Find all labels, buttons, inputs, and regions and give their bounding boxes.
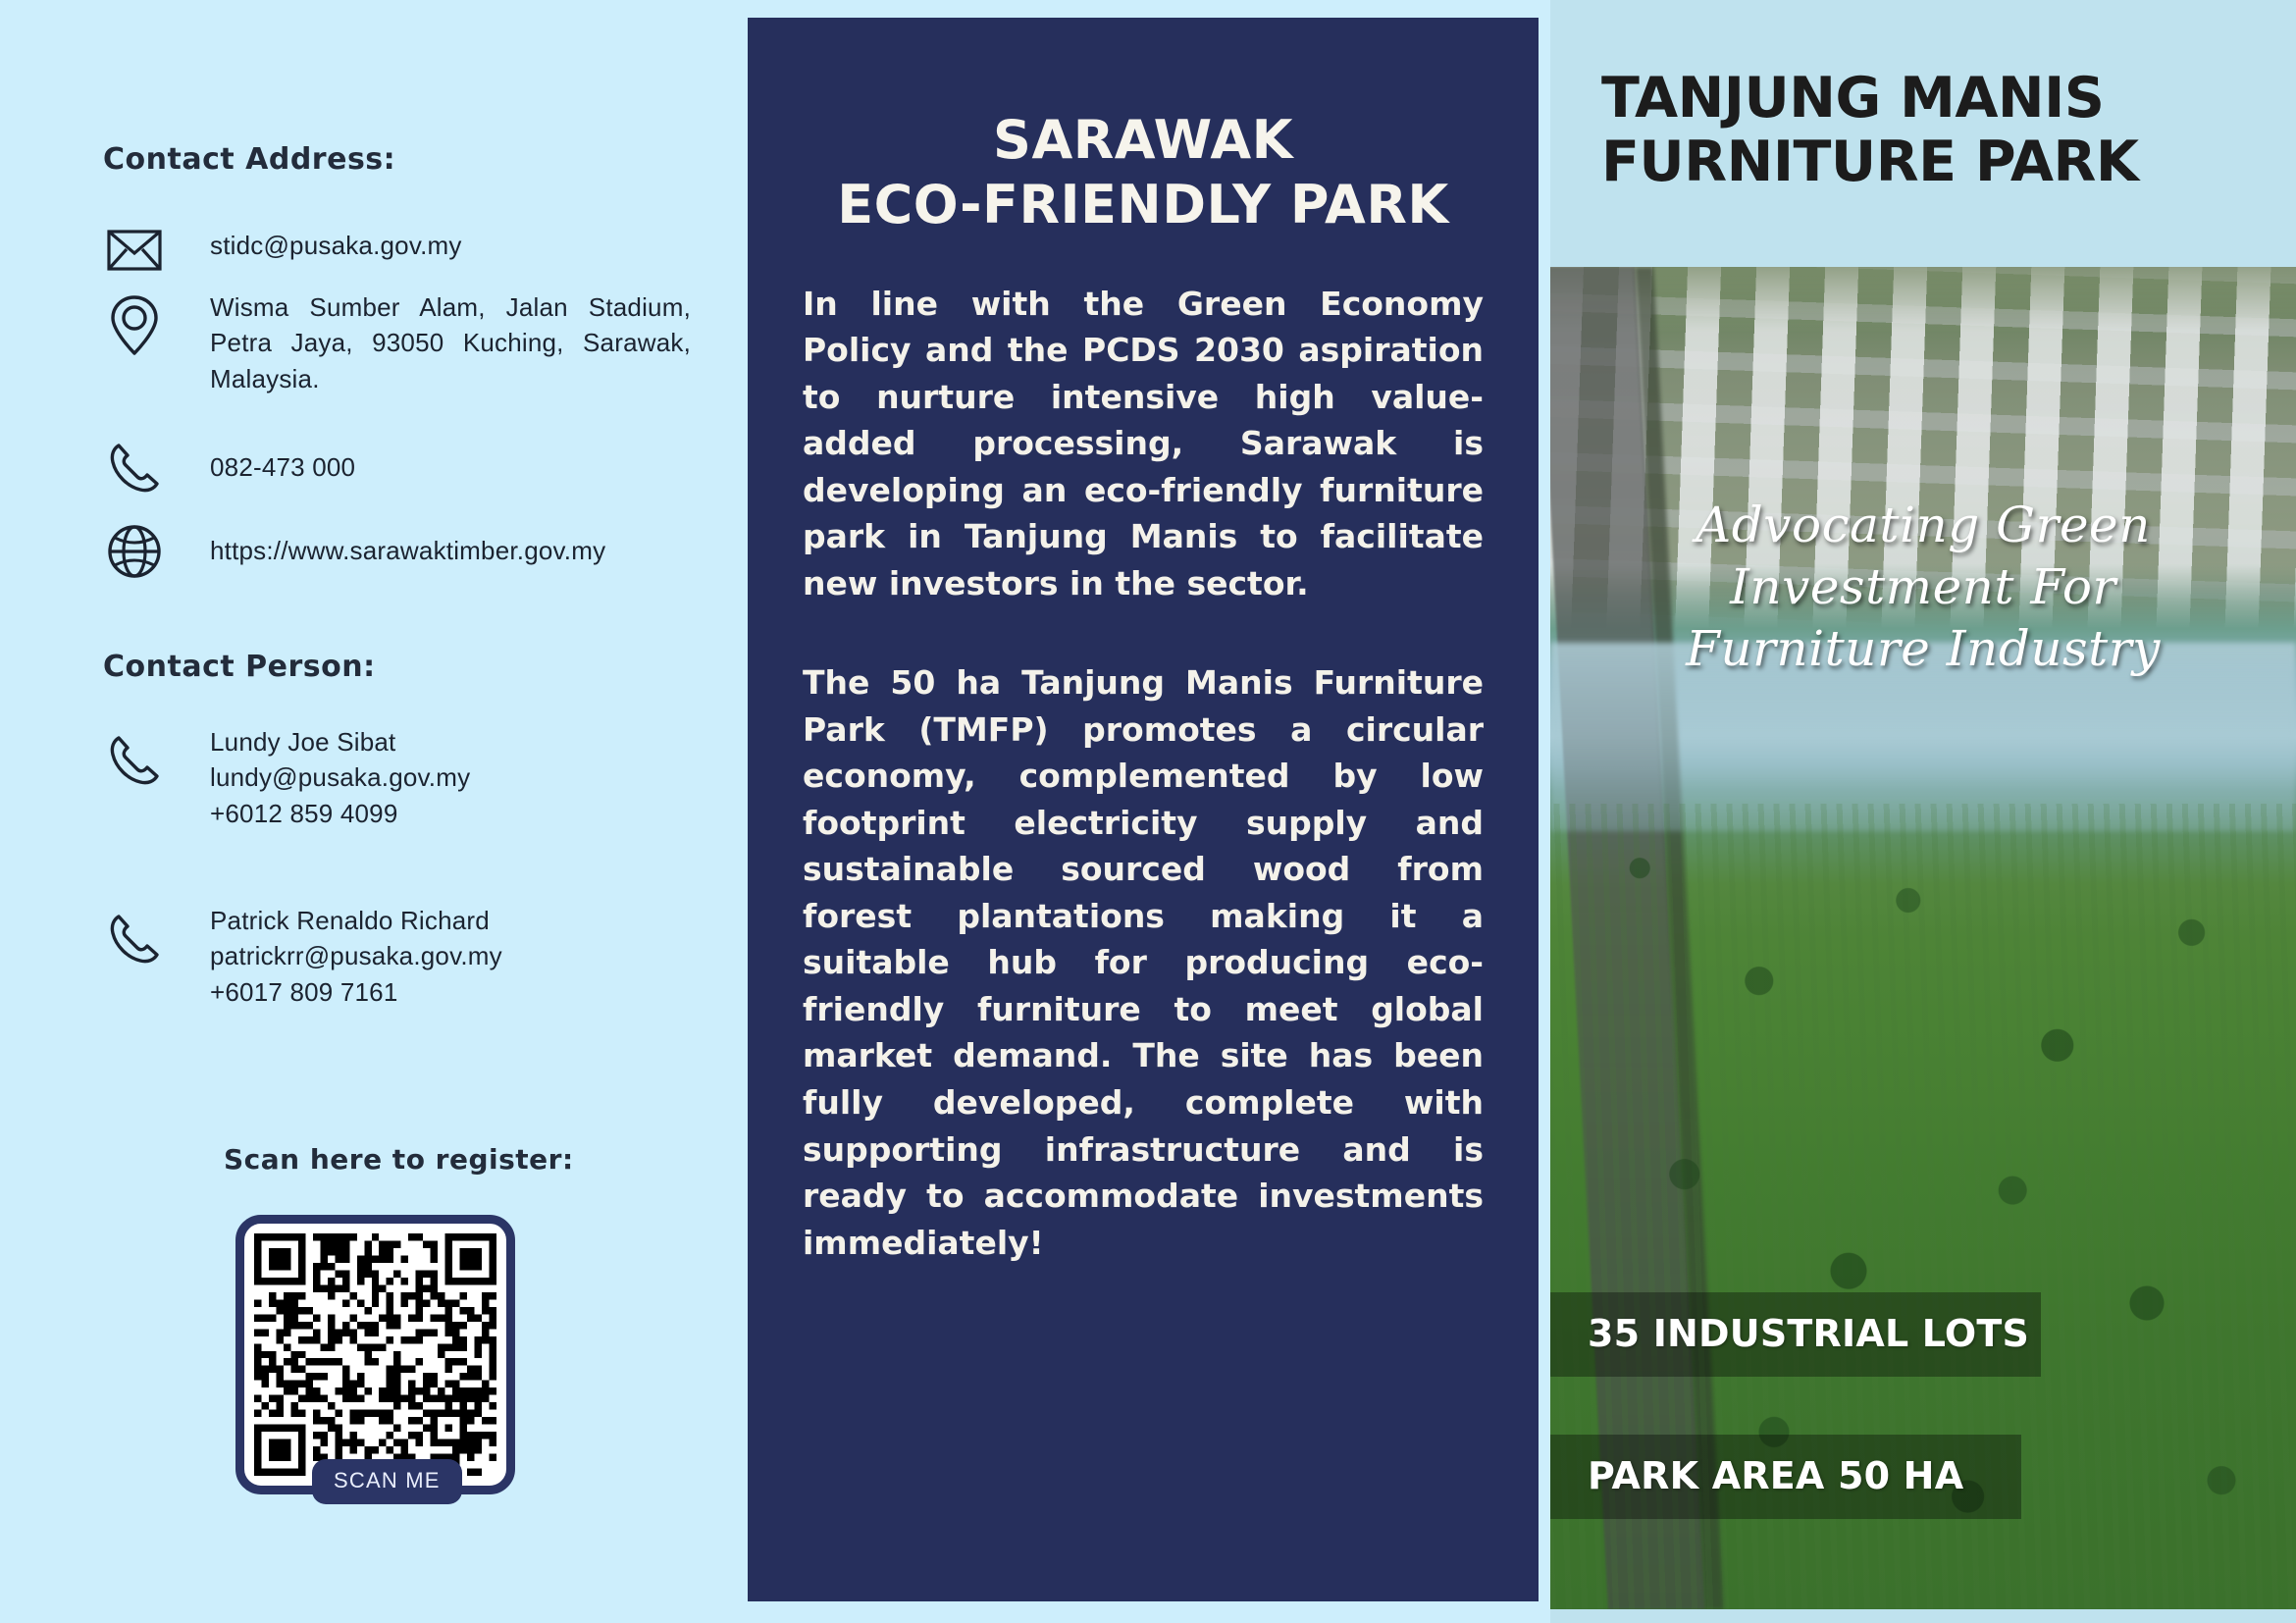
center-panel-description: SARAWAK ECO-FRIENDLY PARK In line with t… <box>748 18 1539 1601</box>
scan-here-heading: Scan here to register: <box>224 1143 574 1176</box>
contact-row-phone: 082-473 000 <box>98 432 701 504</box>
phone-icon <box>98 432 171 504</box>
contact-row-address: Wisma Sumber Alam, Jalan Stadium, Petra … <box>98 289 691 396</box>
person-1-phone[interactable]: +6012 859 4099 <box>210 799 398 828</box>
right-panel-title: TANJUNG MANIS FURNITURE PARK <box>1550 0 2296 194</box>
person-1-details: Lundy Joe Sibat lundy@pusaka.gov.my +601… <box>171 724 652 831</box>
contact-email-text[interactable]: stidc@pusaka.gov.my <box>171 214 720 263</box>
person-2-details: Patrick Renaldo Richard patrickrr@pusaka… <box>171 903 652 1010</box>
center-panel-title: SARAWAK ECO-FRIENDLY PARK <box>803 108 1484 237</box>
person-2-phone[interactable]: +6017 809 7161 <box>210 977 398 1007</box>
qr-code-canvas <box>254 1233 496 1476</box>
contact-person-2: Patrick Renaldo Richard patrickrr@pusaka… <box>98 903 652 1010</box>
contact-person-heading: Contact Person: <box>103 650 376 684</box>
phone-icon <box>98 724 171 797</box>
script-tagline: Advocating Green Investment For Furnitur… <box>1550 495 2296 680</box>
center-paragraph-2: The 50 ha Tanjung Manis Furniture Park (… <box>803 659 1484 1266</box>
contact-row-email: stidc@pusaka.gov.my <box>98 214 720 287</box>
contact-address-heading: Contact Address: <box>103 142 395 177</box>
globe-icon <box>98 515 171 588</box>
contact-person-1: Lundy Joe Sibat lundy@pusaka.gov.my +601… <box>98 724 652 831</box>
brochure-page: Contact Address: stidc@pusaka.gov.my Wis… <box>0 0 2296 1623</box>
scan-me-badge: SCAN ME <box>312 1459 462 1504</box>
location-pin-icon <box>98 289 171 362</box>
stat-industrial-lots: 35 INDUSTRIAL LOTS <box>1550 1292 2041 1377</box>
aerial-photo: Advocating Green Investment For Furnitur… <box>1550 267 2296 1609</box>
contact-row-website: https://www.sarawaktimber.gov.my <box>98 515 740 588</box>
person-2-name: Patrick Renaldo Richard <box>210 906 490 935</box>
center-paragraph-1: In line with the Green Economy Policy an… <box>803 281 1484 607</box>
phone-icon <box>98 903 171 975</box>
qr-code-icon[interactable] <box>235 1215 515 1494</box>
stat-park-area: PARK AREA 50 HA <box>1550 1435 2021 1519</box>
contact-address-text: Wisma Sumber Alam, Jalan Stadium, Petra … <box>171 289 691 396</box>
contact-website-link[interactable]: https://www.sarawaktimber.gov.my <box>171 515 740 568</box>
person-1-email[interactable]: lundy@pusaka.gov.my <box>210 762 470 792</box>
left-panel-contact: Contact Address: stidc@pusaka.gov.my Wis… <box>0 0 748 1623</box>
person-1-name: Lundy Joe Sibat <box>210 727 395 757</box>
envelope-icon <box>98 214 171 287</box>
contact-phone-text[interactable]: 082-473 000 <box>171 432 701 485</box>
person-2-email[interactable]: patrickrr@pusaka.gov.my <box>210 941 502 970</box>
right-panel-cover: TANJUNG MANIS FURNITURE PARK Advocating … <box>1550 0 2296 1623</box>
